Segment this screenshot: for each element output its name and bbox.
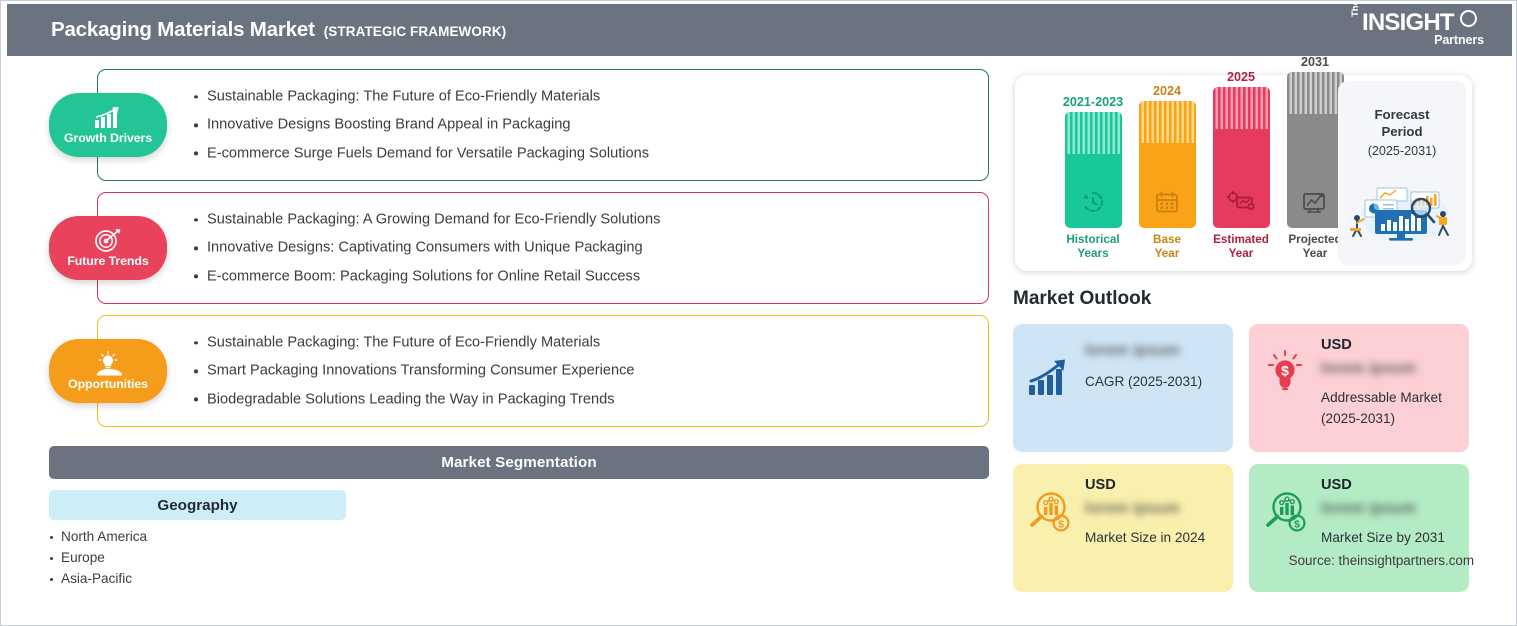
outlook-card-currency: USD <box>1321 476 1456 494</box>
bullet-list-growth-drivers: Sustainable Packaging: The Future of Eco… <box>193 82 649 167</box>
bullet-list-opportunities: Sustainable Packaging: The Future of Eco… <box>193 328 634 413</box>
timeline-bars: 2021-2023 Historical Years <box>1031 81 1331 261</box>
page-header: Packaging Materials Market (STRATEGIC FR… <box>7 4 1512 56</box>
timeline-bar-shape <box>1213 87 1270 228</box>
list-item: Sustainable Packaging: The Future of Eco… <box>193 82 649 110</box>
factor-row-opportunities: Sustainable Packaging: The Future of Eco… <box>49 315 989 427</box>
geography-list: North America Europe Asia-Pacific <box>49 527 147 589</box>
segmentation-category-label: Geography <box>157 497 237 514</box>
timeline-bar-estimated-year: 2025 <box>1211 70 1271 261</box>
logo-ring-icon <box>1460 10 1477 27</box>
factor-row-future-trends: Sustainable Packaging: A Growing Demand … <box>49 192 989 304</box>
list-item: Biodegradable Solutions Leading the Way … <box>193 385 634 413</box>
list-item: Sustainable Packaging: A Growing Demand … <box>193 205 660 233</box>
forecast-settings-icon <box>1226 190 1256 219</box>
bar-chart-arrow-icon <box>1026 336 1074 403</box>
list-item: North America <box>49 527 147 548</box>
bar-stripe-pattern <box>1213 87 1270 129</box>
list-item: Asia-Pacific <box>49 569 147 590</box>
bar-chart-growth-icon <box>93 105 123 130</box>
segmentation-category-geography[interactable]: Geography <box>49 490 346 520</box>
source-attribution: Source: theinsightpartners.com <box>1289 553 1474 568</box>
timeline-bar-caption: Estimated Year <box>1213 233 1269 261</box>
header-title-group: Packaging Materials Market (STRATEGIC FR… <box>51 18 506 42</box>
list-item: Sustainable Packaging: The Future of Eco… <box>193 328 634 356</box>
svg-text:$: $ <box>1058 519 1064 531</box>
badge-label: Future Trends <box>67 254 148 268</box>
outlook-card-currency: USD <box>1321 336 1456 354</box>
list-item: Europe <box>49 548 147 569</box>
market-segmentation-title: Market Segmentation <box>441 454 597 471</box>
bullet-list-future-trends: Sustainable Packaging: A Growing Demand … <box>193 205 660 290</box>
timeline-bar-year: 2024 <box>1153 84 1181 98</box>
timeline-bar-projected-year: 2031 Projected Year <box>1285 55 1345 261</box>
outlook-card-addressable-market[interactable]: $ USD lorem ipsum Addressable Market (20… <box>1249 324 1469 452</box>
outlook-card-value: lorem ipsum <box>1321 500 1456 519</box>
timeline-bar-shape <box>1065 112 1122 228</box>
dollar-bulb-icon: $ <box>1262 336 1310 399</box>
factor-row-growth-drivers: Sustainable Packaging: The Future of Eco… <box>49 69 989 181</box>
timeline-bar-caption: Historical Years <box>1066 233 1119 261</box>
timeline-bar-caption: Projected Year <box>1288 233 1341 261</box>
outlook-card-market-size-2031[interactable]: $ USD lorem ipsum Market Size by 2031 <box>1249 464 1469 592</box>
list-item: Smart Packaging Innovations Transforming… <box>193 357 634 385</box>
insight-partners-logo: The INSIGHT Partners <box>1350 9 1490 51</box>
outlook-card-label: Market Size by 2031 <box>1321 527 1456 548</box>
timeline-bar-shape <box>1139 101 1196 228</box>
market-segmentation-bar: Market Segmentation <box>49 446 989 479</box>
clock-history-icon <box>1080 190 1106 219</box>
timeline-bar-caption: Base Year <box>1153 233 1181 261</box>
list-item: Innovative Designs Boosting Brand Appeal… <box>193 111 649 139</box>
timeline-bar-historical-years: 2021-2023 Historical Years <box>1063 95 1123 261</box>
badge-opportunities[interactable]: Opportunities <box>49 339 167 403</box>
bar-stripe-pattern <box>1065 112 1122 154</box>
svg-text:$: $ <box>1281 363 1289 379</box>
outlook-card-value: lorem ipsum <box>1321 360 1456 379</box>
outlook-card-cagr[interactable]: lorem ipsum CAGR (2025-2031) <box>1013 324 1233 452</box>
badge-growth-drivers[interactable]: Growth Drivers <box>49 93 167 157</box>
chart-monitor-icon <box>1301 190 1329 219</box>
list-item: Innovative Designs: Captivating Consumer… <box>193 234 660 262</box>
svg-text:$: $ <box>1294 519 1300 531</box>
outlook-card-market-size-2024[interactable]: $ USD lorem ipsum Market Size in 2024 <box>1013 464 1233 592</box>
left-column: Sustainable Packaging: The Future of Eco… <box>1 57 1001 626</box>
outlook-card-label: CAGR (2025-2031) <box>1085 371 1220 392</box>
magnifier-chart-dollar-icon: $ <box>1262 476 1310 539</box>
forecast-period-range: (2025-2031) <box>1368 144 1437 158</box>
timeline-bar-base-year: 2024 <box>1137 84 1197 261</box>
forecast-period-panel: Forecast Period (2025-2031) <box>1338 81 1466 265</box>
calendar-icon <box>1154 190 1180 219</box>
list-item: E-commerce Surge Fuels Demand for Versat… <box>193 139 649 167</box>
forecast-period-title: Forecast Period <box>1375 107 1430 140</box>
logo-the-text: The <box>1350 0 1361 17</box>
badge-label: Growth Drivers <box>64 131 152 145</box>
timeline-bar-year: 2021-2023 <box>1063 95 1123 109</box>
target-dartboard-icon <box>93 228 123 253</box>
outlook-card-label: Addressable Market (2025-2031) <box>1321 387 1456 429</box>
logo-partners-text: Partners <box>1434 34 1484 47</box>
timeline-bar-shape <box>1287 72 1344 228</box>
magnifier-chart-dollar-icon: $ <box>1026 476 1074 539</box>
outlook-card-currency: USD <box>1085 476 1220 494</box>
page-title: Packaging Materials Market <box>51 18 315 42</box>
outlook-card-value: lorem ipsum <box>1085 500 1220 519</box>
logo-insight-text: INSIGHT <box>1362 11 1454 35</box>
bar-stripe-pattern <box>1287 72 1344 114</box>
timeline-bar-year: 2031 <box>1301 55 1329 69</box>
outlook-card-value: lorem ipsum <box>1085 342 1220 361</box>
timeline-bar-year: 2025 <box>1227 70 1255 84</box>
infographic-page: Packaging Materials Market (STRATEGIC FR… <box>0 0 1517 626</box>
list-item: E-commerce Boom: Packaging Solutions for… <box>193 262 660 290</box>
badge-future-trends[interactable]: Future Trends <box>49 216 167 280</box>
forecast-timeline-card: 2021-2023 Historical Years <box>1015 75 1472 271</box>
bar-stripe-pattern <box>1139 101 1196 143</box>
outlook-card-label: Market Size in 2024 <box>1085 527 1220 548</box>
badge-label: Opportunities <box>68 377 148 391</box>
lightbulb-in-hand-icon <box>92 351 124 376</box>
page-subtitle: (STRATEGIC FRAMEWORK) <box>324 24 507 39</box>
analytics-dashboard-illustration <box>1343 182 1461 249</box>
market-outlook-title: Market Outlook <box>1013 288 1151 310</box>
